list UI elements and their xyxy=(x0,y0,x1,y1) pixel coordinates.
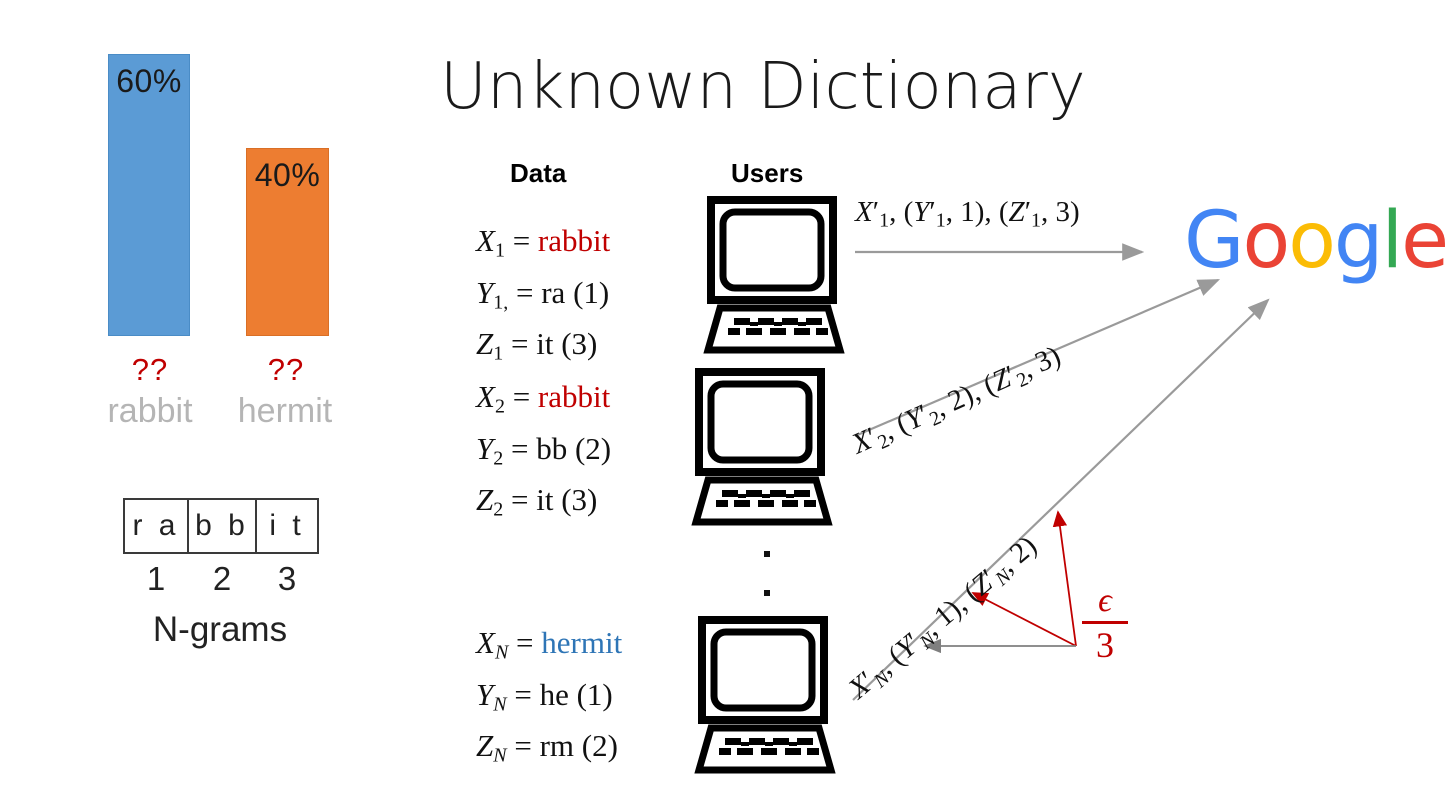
google-letter-g: g xyxy=(1334,196,1382,286)
google-letter-e: e xyxy=(1401,196,1447,286)
google-letter-o2: o xyxy=(1288,196,1334,286)
google-letter-G: G xyxy=(1184,196,1242,286)
arrow-overlay xyxy=(0,0,1454,793)
epsilon-numerator: ϵ xyxy=(1082,583,1128,619)
epsilon-denominator: 3 xyxy=(1082,625,1128,665)
fraction-bar xyxy=(1082,621,1128,624)
google-letter-o1: o xyxy=(1242,196,1288,286)
google-letter-l: l xyxy=(1381,196,1401,286)
report-label-1: X′1, (Y′1, 1), (Z′1, 3) xyxy=(855,196,1080,233)
google-logo: Google xyxy=(1184,196,1447,286)
epsilon-arrow-up xyxy=(1058,512,1076,646)
epsilon-over-three-annotation: ϵ 3 xyxy=(1082,583,1128,665)
slide-canvas: 60% 40% ?? rabbit ?? hermit r a b b i t … xyxy=(0,0,1454,793)
